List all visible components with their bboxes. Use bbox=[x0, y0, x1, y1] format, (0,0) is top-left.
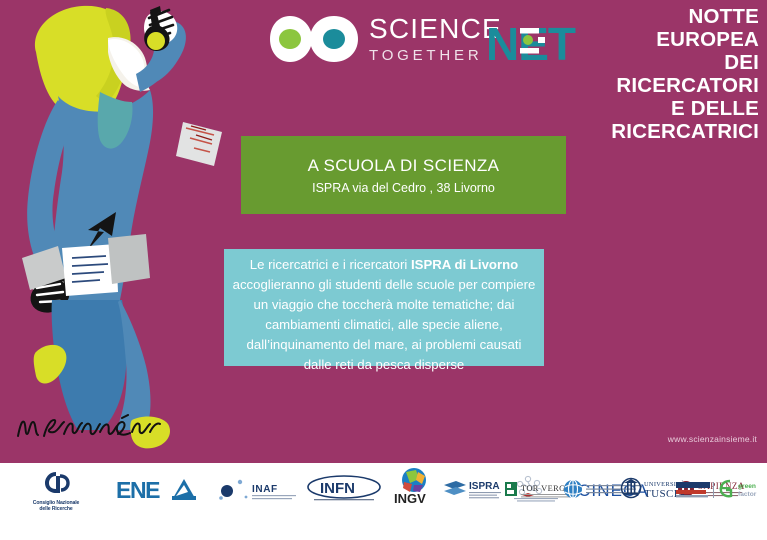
green-factor-logo: green factor bbox=[718, 477, 766, 506]
heading-line-5: E DELLE bbox=[559, 98, 759, 121]
partner-logos-strip-2: TOR VERGATA bbox=[0, 465, 767, 515]
heading-line-1: NOTTE bbox=[559, 6, 759, 29]
event-location: ISPRA via del Cedro , 38 Livorno bbox=[312, 181, 495, 195]
heading-line-3: DEI bbox=[559, 52, 759, 75]
description-part-1: Le ricercatrici e i ricercatori bbox=[250, 257, 411, 272]
event-banner: A SCUOLA DI SCIENZA ISPRA via del Cedro … bbox=[241, 136, 566, 214]
logo-science-text: SCIENCE bbox=[369, 13, 502, 44]
event-description: Le ricercatrici e i ricercatori ISPRA di… bbox=[224, 249, 544, 366]
scientist-illustration bbox=[0, 0, 240, 463]
svg-text:green: green bbox=[738, 483, 756, 490]
description-highlight: ISPRA di Livorno bbox=[411, 257, 518, 272]
infinity-icon bbox=[270, 16, 358, 62]
event-title: A SCUOLA DI SCIENZA bbox=[308, 156, 500, 176]
science-together-net-logo: SCIENCE TOGETHER NET bbox=[268, 8, 578, 70]
svg-text:factor: factor bbox=[738, 491, 757, 498]
centro-ricerche-logo bbox=[676, 479, 718, 508]
footer: Consiglio Nazionale delle Ricerche ENE bbox=[0, 463, 767, 540]
poster-main-panel: SCIENCE TOGETHER NET NOTTE EUROPEA DEI R… bbox=[0, 0, 767, 463]
page-title: NOTTE EUROPEA DEI RICERCATORI E DELLE RI… bbox=[559, 6, 759, 144]
curie-signature bbox=[14, 412, 164, 446]
logo-together-text: TOGETHER bbox=[369, 47, 482, 64]
website-url[interactable]: www.scienzainsieme.it bbox=[668, 434, 757, 444]
poster: SCIENCE TOGETHER NET NOTTE EUROPEA DEI R… bbox=[0, 0, 767, 540]
description-part-2: accoglieranno gli studenti delle scuole … bbox=[233, 277, 536, 372]
heading-line-4: RICERCATORI bbox=[559, 75, 759, 98]
heading-line-2: EUROPEA bbox=[559, 29, 759, 52]
heading-line-6: RICERCATRICI bbox=[559, 121, 759, 144]
